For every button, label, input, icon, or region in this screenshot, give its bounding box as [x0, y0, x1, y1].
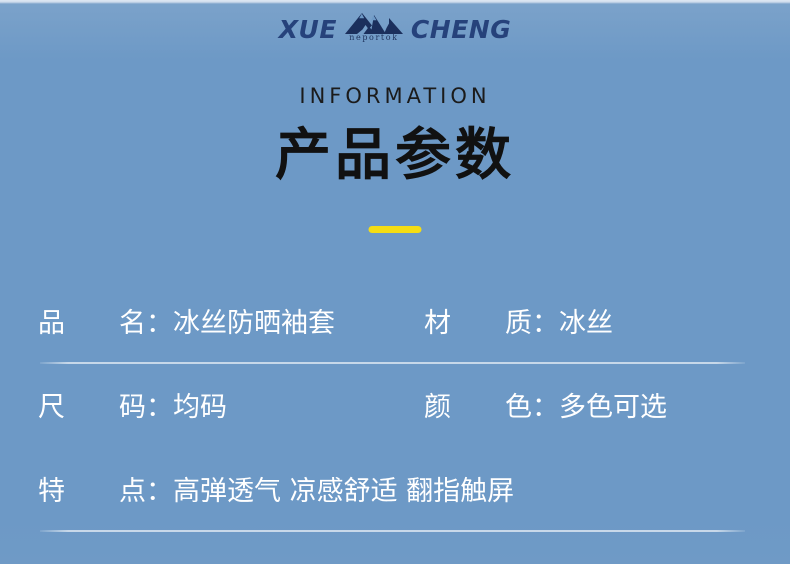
spec-item-material: 材 质：冰丝: [424, 308, 613, 340]
spec-table: 品 名：冰丝防晒袖套 材 质：冰丝 尺 码：均码 颜 色：多色可选 特 点：高弹…: [0, 296, 790, 548]
accent-divider: [369, 226, 422, 233]
spec-row: 特 点：高弹透气 凉感舒适 翻指触屏: [0, 464, 790, 548]
brand-word-right: CHENG: [411, 17, 511, 42]
section-eyebrow: INFORMATION: [0, 84, 790, 108]
mountain-icon: neportok: [343, 11, 405, 47]
spec-row: 尺 码：均码 颜 色：多色可选: [0, 380, 790, 464]
brand-logo: XUE neportok CHENG: [0, 9, 790, 49]
row-separator: [40, 362, 745, 364]
spec-item-product-name: 品 名：冰丝防晒袖套: [38, 308, 335, 340]
page-title: 产品参数: [0, 126, 790, 186]
product-parameters-banner: XUE neportok CHENG INFORMATION 产品参数 品 名：…: [0, 0, 790, 564]
spec-row: 品 名：冰丝防晒袖套 材 质：冰丝: [0, 296, 790, 380]
brand-subtext: neportok: [349, 33, 398, 42]
spec-item-color: 颜 色：多色可选: [424, 392, 667, 424]
spec-item-features: 特 点：高弹透气 凉感舒适 翻指触屏: [38, 476, 514, 508]
brand-word-left: XUE: [279, 17, 337, 42]
spec-item-size: 尺 码：均码: [38, 392, 227, 424]
